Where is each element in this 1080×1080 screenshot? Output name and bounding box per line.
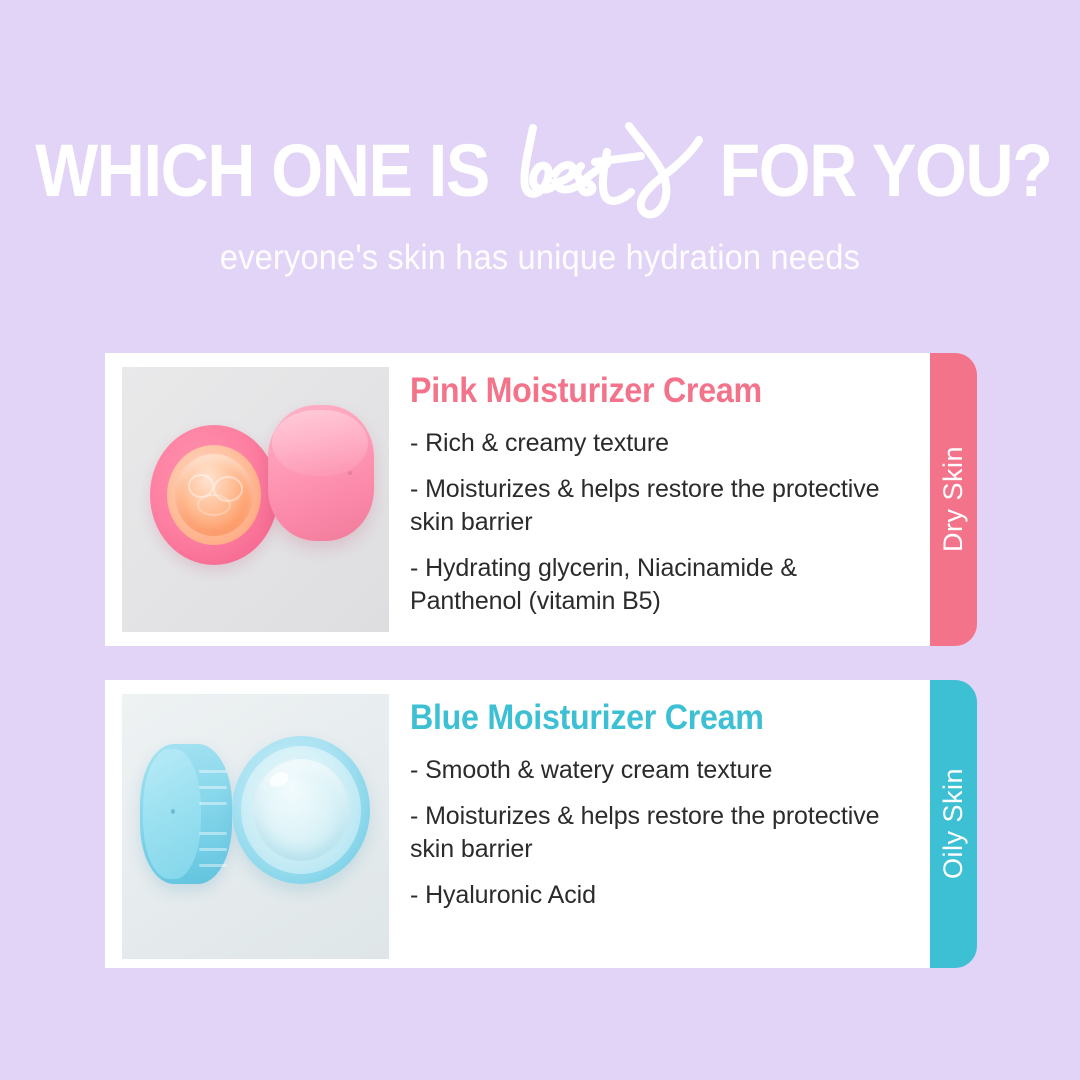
product-card-blue[interactable]: Blue Moisturizer Cream - Smooth & watery… <box>105 680 930 968</box>
skin-type-tab-dry[interactable]: Dry Skin <box>930 353 977 646</box>
lid-ridge <box>199 770 227 773</box>
pink-jar-opening <box>167 445 261 545</box>
skin-type-tab-label: Dry Skin <box>938 446 969 552</box>
product-photo-pink <box>122 367 389 632</box>
card-body-blue: Blue Moisturizer Cream - Smooth & watery… <box>389 680 930 912</box>
lid-ridge <box>199 786 227 789</box>
blue-jar-body <box>232 736 370 884</box>
card-title-pink: Pink Moisturizer Cream <box>410 373 888 410</box>
header: WHICH ONE IS FOR YOU? everyone's skin ha… <box>0 0 1080 275</box>
skin-type-tab-label: Oily Skin <box>938 768 969 879</box>
pink-cream-surface <box>175 454 253 536</box>
product-card-pink[interactable]: Pink Moisturizer Cream - Rich & creamy t… <box>105 353 930 646</box>
feature-bullet: - Hyaluronic Acid <box>410 879 902 912</box>
product-card-list: Pink Moisturizer Cream - Rich & creamy t… <box>105 353 980 968</box>
blue-jar-rim <box>241 746 361 874</box>
lid-ridge <box>199 832 227 835</box>
card-title-blue: Blue Moisturizer Cream <box>410 700 888 737</box>
feature-bullet: - Smooth & watery cream texture <box>410 754 902 787</box>
lid-ridge <box>199 864 227 867</box>
feature-bullet: - Rich & creamy texture <box>410 427 902 460</box>
lid-face <box>143 749 201 879</box>
page-title: WHICH ONE IS FOR YOU? <box>0 128 1080 214</box>
product-photo-blue <box>122 694 389 959</box>
cream-swirl <box>197 494 231 516</box>
lid-highlight <box>272 410 368 476</box>
blue-gel-surface <box>253 759 349 861</box>
skin-type-tab-oily[interactable]: Oily Skin <box>930 680 977 968</box>
lid-ridge <box>199 802 227 805</box>
pink-jar-lid <box>268 405 374 541</box>
lid-ridge <box>199 848 227 851</box>
lid-mark <box>348 471 352 475</box>
feature-bullet: - Moisturizes & helps restore the protec… <box>410 473 902 538</box>
page-subtitle: everyone's skin has unique hydration nee… <box>38 240 1042 275</box>
title-text-post: FOR YOU? <box>719 134 1051 208</box>
card-body-pink: Pink Moisturizer Cream - Rich & creamy t… <box>389 353 930 617</box>
pink-jar-body <box>150 425 278 565</box>
gel-highlight <box>267 769 291 789</box>
title-text-pre: WHICH ONE IS <box>36 134 490 208</box>
feature-bullet: - Hydrating glycerin, Niacinamide & Pant… <box>410 552 902 617</box>
lid-mark <box>171 809 175 814</box>
title-script-best <box>515 128 701 214</box>
blue-jar-lid <box>140 744 232 884</box>
script-best-icon <box>511 112 707 224</box>
feature-bullet: - Moisturizes & helps restore the protec… <box>410 800 902 865</box>
